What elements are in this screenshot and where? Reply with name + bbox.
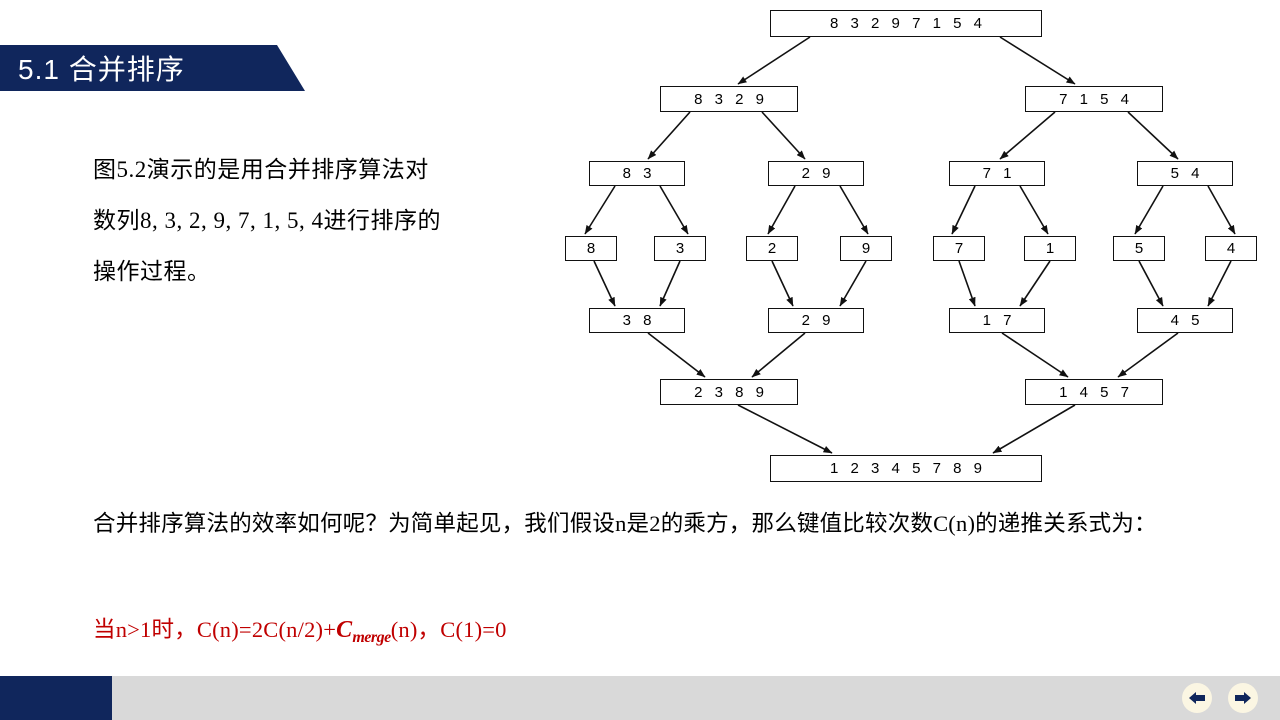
diagram-node-leaf6: 1 bbox=[1024, 236, 1076, 261]
diagram-edge-m1b-to-m2l bbox=[752, 333, 805, 377]
diagram-node-d2c: 7 1 bbox=[949, 161, 1045, 186]
formula-suffix: (n)，C(1)=0 bbox=[391, 617, 507, 642]
diagram-edge-d2c-to-leaf5 bbox=[952, 186, 975, 234]
previous-slide-button[interactable] bbox=[1182, 683, 1212, 713]
next-slide-button[interactable] bbox=[1228, 683, 1258, 713]
formula-prefix: 当n>1时，C(n)=2C(n/2)+ bbox=[93, 617, 336, 642]
diagram-node-leaf3: 2 bbox=[746, 236, 798, 261]
diagram-edge-m1a-to-m2l bbox=[648, 333, 705, 377]
diagram-edge-leaf4-to-m1b bbox=[840, 261, 866, 306]
diagram-node-m1a: 3 8 bbox=[589, 308, 685, 333]
diagram-node-leaf5: 7 bbox=[933, 236, 985, 261]
diagram-node-d2a: 8 3 bbox=[589, 161, 685, 186]
arrow-left-icon bbox=[1188, 690, 1206, 706]
arrow-right-icon bbox=[1234, 690, 1252, 706]
diagram-node-leaf8: 4 bbox=[1205, 236, 1257, 261]
diagram-edge-leaf6-to-m1c bbox=[1020, 261, 1050, 306]
diagram-edge-leaf7-to-m1d bbox=[1139, 261, 1163, 306]
diagram-edge-d1r-to-d2d bbox=[1128, 112, 1178, 159]
diagram-edge-d2a-to-leaf2 bbox=[660, 186, 688, 234]
diagram-edge-root-to-d1l bbox=[738, 37, 810, 84]
diagram-node-m2l: 2 3 8 9 bbox=[660, 379, 798, 405]
formula-math-subscript: merge bbox=[352, 629, 390, 646]
diagram-node-d1r: 7 1 5 4 bbox=[1025, 86, 1163, 112]
bottom-bar bbox=[0, 676, 1280, 720]
diagram-edge-root-to-d1r bbox=[1000, 37, 1075, 84]
diagram-node-m1b: 2 9 bbox=[768, 308, 864, 333]
efficiency-paragraph: 合并排序算法的效率如何呢？为简单起见，我们假设n是2的乘方，那么键值比较次数C(… bbox=[93, 500, 1258, 548]
diagram-edge-leaf3-to-m1b bbox=[772, 261, 793, 306]
diagram-node-m1d: 4 5 bbox=[1137, 308, 1233, 333]
diagram-edge-d2a-to-leaf1 bbox=[585, 186, 615, 234]
merge-sort-diagram: 8 3 2 9 7 1 5 48 3 2 97 1 5 48 32 97 15 … bbox=[0, 0, 1280, 660]
diagram-edge-d2b-to-leaf3 bbox=[768, 186, 795, 234]
diagram-edge-d2d-to-leaf7 bbox=[1135, 186, 1163, 234]
diagram-node-root: 8 3 2 9 7 1 5 4 bbox=[770, 10, 1042, 37]
bottom-bar-accent-block bbox=[0, 676, 112, 720]
diagram-edge-d2b-to-leaf4 bbox=[840, 186, 868, 234]
diagram-node-m2r: 1 4 5 7 bbox=[1025, 379, 1163, 405]
diagram-edge-m1d-to-m2r bbox=[1118, 333, 1178, 377]
diagram-edge-d1l-to-d2b bbox=[762, 112, 805, 159]
diagram-node-d1l: 8 3 2 9 bbox=[660, 86, 798, 112]
diagram-node-result: 1 2 3 4 5 7 8 9 bbox=[770, 455, 1042, 482]
formula-math-variable: C bbox=[336, 617, 352, 643]
diagram-node-leaf1: 8 bbox=[565, 236, 617, 261]
diagram-edge-leaf1-to-m1a bbox=[594, 261, 615, 306]
diagram-edge-leaf2-to-m1a bbox=[660, 261, 680, 306]
diagram-edge-m2l-to-result bbox=[738, 405, 832, 453]
diagram-edge-d2d-to-leaf8 bbox=[1208, 186, 1235, 234]
diagram-edge-d2c-to-leaf6 bbox=[1020, 186, 1048, 234]
diagram-edge-leaf8-to-m1d bbox=[1208, 261, 1231, 306]
recurrence-formula: 当n>1时，C(n)=2C(n/2)+Cmerge(n)，C(1)=0 bbox=[93, 612, 507, 647]
diagram-edge-d1r-to-d2c bbox=[1000, 112, 1055, 159]
diagram-edge-m2r-to-result bbox=[993, 405, 1075, 453]
diagram-node-d2b: 2 9 bbox=[768, 161, 864, 186]
diagram-node-leaf2: 3 bbox=[654, 236, 706, 261]
diagram-edge-leaf5-to-m1c bbox=[959, 261, 975, 306]
diagram-node-m1c: 1 7 bbox=[949, 308, 1045, 333]
diagram-node-leaf7: 5 bbox=[1113, 236, 1165, 261]
diagram-node-leaf4: 9 bbox=[840, 236, 892, 261]
diagram-edge-d1l-to-d2a bbox=[648, 112, 690, 159]
diagram-node-d2d: 5 4 bbox=[1137, 161, 1233, 186]
diagram-edge-m1c-to-m2r bbox=[1002, 333, 1068, 377]
